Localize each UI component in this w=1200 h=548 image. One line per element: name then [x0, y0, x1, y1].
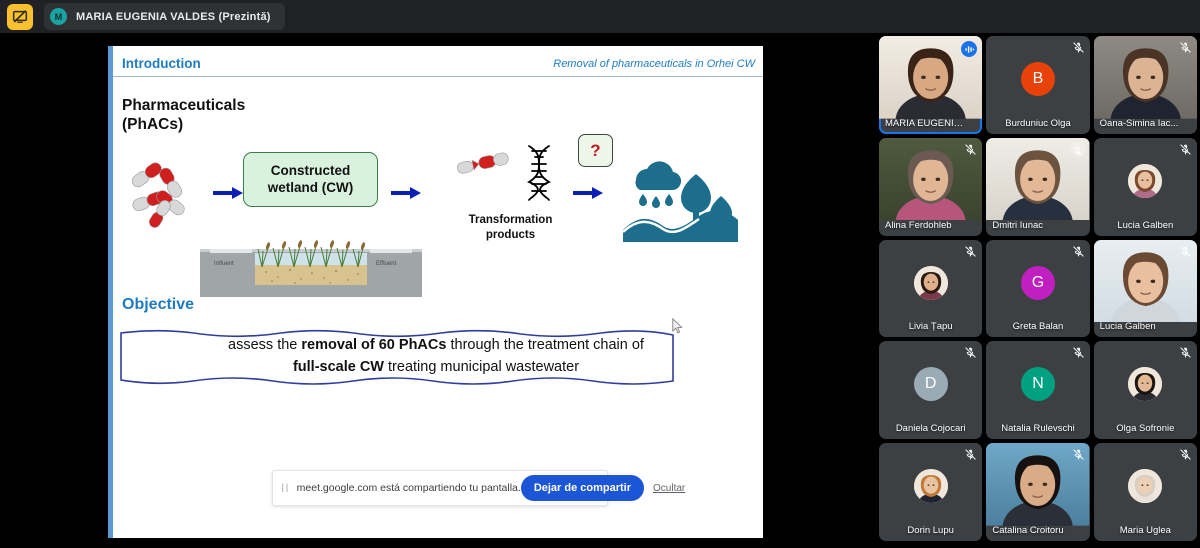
wetland-cross-section-icon: Influent Effluent: [200, 239, 422, 297]
constructed-wetland-box: Constructed wetland (CW): [243, 152, 378, 207]
slide-title: Introduction: [122, 56, 201, 71]
meeting-screen-share-window: M MARIA EUGENIA VALDES (Prezintă) Introd…: [0, 0, 1200, 548]
slide-header: Introduction Removal of pharmaceuticals …: [113, 51, 763, 77]
screen-share-off-glyph: [12, 9, 28, 25]
pause-icon: II: [281, 481, 290, 495]
mic-off-icon: [1179, 143, 1192, 156]
participant-name: Catalina Croitoru: [992, 525, 1071, 536]
participant-tile[interactable]: D Daniela Cojocari: [879, 341, 982, 439]
mic-off-icon: [1072, 346, 1085, 359]
environment-landscape-icon: [618, 152, 743, 252]
participant-tile[interactable]: Maria Uglea: [1094, 443, 1197, 541]
participant-name: Maria Uglea: [1094, 525, 1197, 536]
mic-off-icon: [1072, 245, 1085, 258]
slide-subtitle: Removal of pharmaceuticals in Orhei CW: [553, 58, 755, 70]
mic-off-icon: [964, 346, 977, 359]
mic-off-icon: [964, 448, 977, 461]
pharmaceuticals-label-line1: Pharmaceuticals: [122, 96, 245, 115]
participant-tile[interactable]: Lucia Galben: [1094, 240, 1197, 338]
participant-name: Burduniuc Olga: [986, 118, 1089, 129]
participant-tile[interactable]: N Natalia Rulevschi: [986, 341, 1089, 439]
transformation-products-group: Transformation products: [453, 142, 568, 243]
audio-level-icon: [964, 44, 975, 55]
arrow-right-icon-3: [573, 186, 603, 200]
participant-grid: MARIA EUGENIA ...B Burduniuc Olga Oana-S…: [876, 33, 1200, 548]
mouse-cursor: [672, 318, 683, 334]
avatar-initial: D: [914, 367, 948, 401]
mic-off-icon: [1072, 245, 1085, 258]
transformation-label-line1: Transformation: [453, 213, 568, 228]
participant-name: Dorin Lupu: [879, 525, 982, 536]
mic-off-icon: [964, 448, 977, 461]
participant-name: Lucia Galben: [1100, 321, 1179, 332]
avatar-portrait: [1128, 367, 1162, 401]
participant-name: Lucia Galben: [1094, 220, 1197, 231]
objective-line1-bold: removal of 60 PhACs: [301, 337, 446, 353]
objective-line2-post: treating municipal wastewater: [384, 359, 579, 375]
participant-tile[interactable]: MARIA EUGENIA ...: [879, 36, 982, 134]
participant-tile[interactable]: G Greta Balan: [986, 240, 1089, 338]
mic-off-icon: [1179, 448, 1192, 461]
mic-off-icon: [1179, 346, 1192, 359]
effluent-label: Effluent: [376, 261, 397, 267]
mic-off-icon: [1072, 448, 1085, 461]
participant-name: Oana-Simina Iac...: [1100, 118, 1179, 129]
cw-box-line1: Constructed: [268, 163, 354, 179]
influent-label: Influent: [214, 261, 234, 267]
participant-tile[interactable]: Alina Ferdohleb: [879, 138, 982, 236]
presenter-chip[interactable]: M MARIA EUGENIA VALDES (Prezintă): [44, 3, 285, 30]
avatar-photo: [914, 266, 948, 300]
mic-off-icon: [1179, 41, 1192, 54]
participant-tile[interactable]: Dorin Lupu: [879, 443, 982, 541]
mic-off-icon: [964, 143, 977, 156]
shared-screen-stage[interactable]: Introduction Removal of pharmaceuticals …: [0, 33, 872, 548]
hide-link[interactable]: Ocultar: [653, 483, 685, 494]
mic-off-icon: [1179, 448, 1192, 461]
mic-off-icon: [1179, 245, 1192, 258]
mic-off-icon: [1179, 245, 1192, 258]
avatar-initial: B: [1021, 62, 1055, 96]
pharmaceuticals-label: Pharmaceuticals (PhACs): [122, 96, 245, 135]
avatar-photo: [914, 469, 948, 503]
participant-name: Natalia Rulevschi: [986, 423, 1089, 434]
participant-tile[interactable]: Olga Sofronie: [1094, 341, 1197, 439]
presentation-slide: Introduction Removal of pharmaceuticals …: [108, 46, 763, 538]
avatar-initial: G: [1021, 266, 1055, 300]
participant-tile[interactable]: Dmitri Iunac: [986, 138, 1089, 236]
mic-off-icon: [1072, 448, 1085, 461]
mic-off-icon: [1072, 41, 1085, 54]
pharmaceuticals-label-line2: (PhACs): [122, 115, 245, 134]
participant-name: MARIA EUGENIA ...: [885, 118, 964, 129]
avatar-photo: [1128, 469, 1162, 503]
participant-tile[interactable]: Lucia Galben: [1094, 138, 1197, 236]
objective-title: Objective: [122, 296, 194, 314]
mic-off-icon: [1072, 346, 1085, 359]
avatar-portrait: [914, 469, 948, 503]
avatar-portrait: [1128, 164, 1162, 198]
avatar: M: [50, 8, 67, 25]
participant-name: Greta Balan: [986, 321, 1089, 332]
stop-sharing-button[interactable]: Dejar de compartir: [521, 475, 644, 501]
broken-capsule-and-dna-icon: [453, 142, 568, 204]
mic-off-icon: [1179, 143, 1192, 156]
participant-name: Olga Sofronie: [1094, 423, 1197, 434]
screen-share-notification-bar: II meet.google.com está compartiendo tu …: [272, 470, 608, 506]
treatment-chain-diagram: Constructed wetland (CW) Influent Efflue…: [108, 134, 763, 324]
mic-off-icon: [1179, 346, 1192, 359]
mic-off-icon: [964, 245, 977, 258]
share-message: meet.google.com está compartiendo tu pan…: [297, 482, 521, 494]
participant-tile[interactable]: Catalina Croitoru: [986, 443, 1089, 541]
objective-line1-pre: assess the: [228, 337, 301, 353]
participant-tile[interactable]: Oana-Simina Iac...: [1094, 36, 1197, 134]
transformation-label-line2: products: [453, 228, 568, 243]
objective-text: assess the removal of 60 PhACs through t…: [126, 334, 746, 380]
question-mark-box: ?: [578, 134, 613, 167]
pill-capsules-icon: [124, 152, 204, 232]
mic-off-icon: [1072, 41, 1085, 54]
presenter-name: MARIA EUGENIA VALDES (Prezintă): [76, 11, 271, 23]
objective-line-2: full-scale CW treating municipal wastewa…: [293, 357, 579, 379]
mic-off-icon: [964, 143, 977, 156]
objective-line2-bold: full-scale CW: [293, 359, 384, 375]
participant-name: Daniela Cojocari: [879, 423, 982, 434]
participant-tile[interactable]: Livia Țapu: [879, 240, 982, 338]
avatar-photo: [1128, 367, 1162, 401]
arrow-right-icon-2: [391, 186, 421, 200]
mic-off-icon: [1179, 41, 1192, 54]
avatar-initial: N: [1021, 367, 1055, 401]
transformation-products-label: Transformation products: [453, 213, 568, 243]
mic-off-icon: [964, 346, 977, 359]
mic-off-icon: [964, 245, 977, 258]
mic-off-icon: [1070, 142, 1086, 158]
avatar-portrait: [1128, 469, 1162, 503]
avatar-photo: [1128, 164, 1162, 198]
objective-line1-post: through the treatment chain of: [446, 337, 644, 353]
participant-tile[interactable]: B Burduniuc Olga: [986, 36, 1089, 134]
participant-name: Dmitri Iunac: [992, 220, 1071, 231]
objective-line-1: assess the removal of 60 PhACs through t…: [228, 335, 644, 357]
arrow-right-icon-1: [213, 186, 243, 200]
mic-off-icon: [1072, 145, 1084, 157]
top-bar: M MARIA EUGENIA VALDES (Prezintă): [0, 0, 1200, 33]
participant-name: Livia Țapu: [879, 321, 982, 332]
participant-name: Alina Ferdohleb: [885, 220, 964, 231]
avatar-portrait: [914, 266, 948, 300]
screen-share-off-icon[interactable]: [7, 4, 33, 30]
cw-box-line2: wetland (CW): [268, 180, 354, 196]
